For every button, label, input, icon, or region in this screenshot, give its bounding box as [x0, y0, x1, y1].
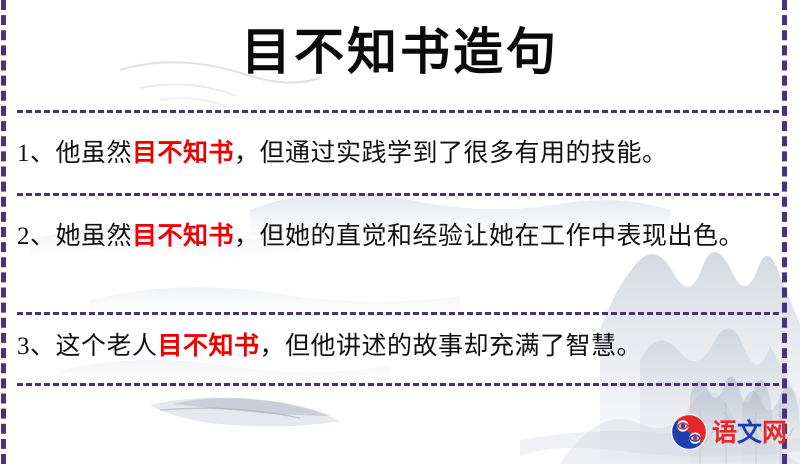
separator-line — [17, 383, 779, 386]
idiom-highlight: 目不知书 — [158, 333, 260, 360]
sentence-after: ，但通过实践学到了很多有用的技能。 — [234, 140, 668, 167]
separator-line — [17, 312, 779, 315]
site-logo[interactable]: 语文网 — [670, 410, 784, 454]
sentence-before: 他虽然 — [56, 140, 133, 167]
separator-line — [17, 110, 779, 113]
sentence-index: 3、 — [17, 333, 56, 360]
boat-silhouette — [150, 397, 340, 426]
idiom-highlight: 目不知书 — [132, 223, 234, 250]
sentence-after: ，但他讲述的故事却充满了智慧。 — [260, 333, 643, 360]
logo-char-3: 网 — [762, 418, 787, 447]
logo-char-1: 语 — [712, 418, 737, 447]
idiom-highlight: 目不知书 — [132, 140, 234, 167]
separator-line — [17, 193, 779, 196]
sentence-index: 1、 — [17, 140, 56, 167]
example-sentence: 2、她虽然目不知书，但她的直觉和经验让她在工作中表现出色。 — [17, 216, 777, 257]
sentence-before: 这个老人 — [56, 333, 158, 360]
sentence-after: ，但她的直觉和经验让她在工作中表现出色。 — [234, 223, 744, 250]
page-title: 目不知书造句 — [0, 22, 800, 82]
yinyang-fish-emblem-icon — [670, 413, 708, 451]
logo-char-2: 文 — [737, 418, 762, 447]
worksheet-page: 目不知书造句 1、他虽然目不知书，但通过实践学到了很多有用的技能。 2、她虽然目… — [0, 0, 800, 464]
sentence-before: 她虽然 — [56, 223, 133, 250]
logo-text: 语文网 — [712, 420, 787, 445]
sentence-index: 2、 — [17, 223, 56, 250]
example-sentence: 1、他虽然目不知书，但通过实践学到了很多有用的技能。 — [17, 133, 777, 174]
example-sentence: 3、这个老人目不知书，但他讲述的故事却充满了智慧。 — [17, 326, 777, 367]
